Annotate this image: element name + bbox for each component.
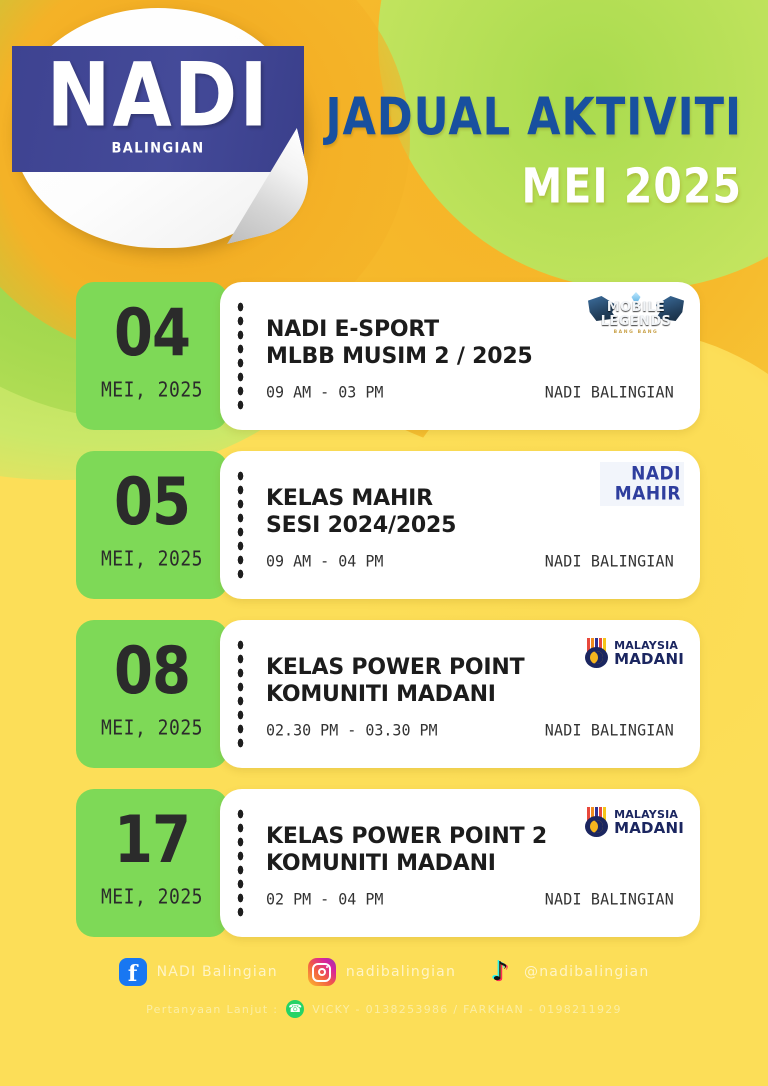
nadi-mahir-text-2: MAHIR — [615, 485, 681, 503]
social-item-facebook[interactable]: f NADI Balingian — [119, 958, 278, 986]
event-venue: NADI BALINGIAN — [545, 382, 674, 401]
social-links: f NADI Balingian nadibalingian ♪ @nadiba… — [0, 958, 768, 986]
date-month: MEI, 2025 — [101, 885, 203, 909]
event-meta: 02 PM - 04 PM NADI BALINGIAN — [266, 890, 678, 908]
event-time: 09 AM - 04 PM — [266, 551, 383, 570]
ml-logo-text-1: MOBILE — [607, 301, 665, 314]
date-badge: 04 MEI, 2025 — [76, 282, 228, 430]
event-list: 04 MEI, 2025 NADI E-SPORT MLBB MUSIM 2 /… — [0, 270, 768, 937]
facebook-handle: NADI Balingian — [157, 964, 278, 980]
nadi-mahir-logo-icon: NADI MAHIR — [600, 462, 684, 506]
contact-numbers: VICKY - 0138253986 / FARKHAN - 019821192… — [312, 1003, 622, 1016]
nadi-logo-sticker: NADI BALINGIAN — [12, 8, 304, 248]
social-item-tiktok[interactable]: ♪ @nadibalingian — [486, 958, 649, 986]
event-meta: 02.30 PM - 03.30 PM NADI BALINGIAN — [266, 721, 678, 739]
date-month: MEI, 2025 — [101, 547, 203, 571]
perforation-dots-icon — [236, 300, 245, 412]
event-title-line-1: KELAS POWER POINT — [266, 655, 582, 682]
instagram-icon[interactable] — [308, 958, 336, 986]
event-title-line-2: KOMUNITI MADANI — [266, 682, 582, 709]
event-venue: NADI BALINGIAN — [545, 720, 674, 739]
malaysia-madani-logo-icon: MALAYSIA MADANI — [584, 636, 684, 670]
ml-logo-text-3: BANG BANG — [614, 330, 659, 335]
contact-bar: Pertanyaan Lanjut : ☎ VICKY - 0138253986… — [0, 1000, 768, 1018]
event-row[interactable]: 17 MEI, 2025 KELAS POWER POINT 2 KOMUNIT… — [76, 789, 700, 937]
contact-prefix: Pertanyaan Lanjut : — [146, 1003, 278, 1016]
sticker-band: NADI BALINGIAN — [12, 46, 304, 172]
event-logo: MALAYSIA MADANI — [584, 801, 684, 843]
event-card[interactable]: NADI E-SPORT MLBB MUSIM 2 / 2025 09 AM -… — [220, 282, 700, 430]
date-day: 08 — [114, 639, 190, 704]
event-venue: NADI BALINGIAN — [545, 551, 674, 570]
instagram-handle: nadibalingian — [346, 964, 456, 980]
madani-crescent-icon — [590, 820, 603, 833]
tiktok-handle: @nadibalingian — [524, 964, 649, 980]
event-time: 09 AM - 03 PM — [266, 382, 383, 401]
event-title-line-2: SESI 2024/2025 — [266, 513, 582, 540]
event-meta: 09 AM - 04 PM NADI BALINGIAN — [266, 552, 678, 570]
event-card[interactable]: KELAS POWER POINT 2 KOMUNITI MADANI 02 P… — [220, 789, 700, 937]
malaysia-madani-logo-icon: MALAYSIA MADANI — [584, 805, 684, 839]
nadi-mahir-text-1: NADI — [631, 465, 681, 483]
event-row[interactable]: 05 MEI, 2025 KELAS MAHIR SESI 2024/2025 … — [76, 451, 700, 599]
madani-logo-text: MALAYSIA MADANI — [614, 640, 684, 667]
mobile-legends-logo-icon: MOBILE LEGENDS BANG BANG — [588, 292, 684, 338]
event-card[interactable]: KELAS MAHIR SESI 2024/2025 09 AM - 04 PM… — [220, 451, 700, 599]
madani-text-1: MALAYSIA — [614, 809, 684, 820]
madani-emblem-icon — [584, 807, 610, 837]
madani-emblem-icon — [584, 638, 610, 668]
event-title-line-2: KOMUNITI MADANI — [266, 851, 582, 878]
perforation-dots-icon — [236, 469, 245, 581]
madani-circle-icon — [585, 647, 608, 668]
date-day: 04 — [114, 301, 190, 366]
page-subtitle: MEI 2025 — [317, 162, 742, 210]
madani-logo-text: MALAYSIA MADANI — [614, 809, 684, 836]
perforation-dots-icon — [236, 638, 245, 750]
page-title: JADUAL AKTIVITI — [325, 92, 742, 144]
event-title-line-1: KELAS POWER POINT 2 — [266, 824, 582, 851]
social-item-instagram[interactable]: nadibalingian — [308, 958, 456, 986]
date-day: 17 — [114, 808, 190, 873]
madani-crescent-icon — [590, 651, 603, 664]
event-logo: NADI MAHIR — [600, 463, 684, 505]
date-badge: 05 MEI, 2025 — [76, 451, 228, 599]
event-row[interactable]: 08 MEI, 2025 KELAS POWER POINT KOMUNITI … — [76, 620, 700, 768]
madani-text-2: MADANI — [614, 821, 684, 836]
event-time: 02 PM - 04 PM — [266, 889, 383, 908]
event-logo: MALAYSIA MADANI — [584, 632, 684, 674]
event-title-line-2: MLBB MUSIM 2 / 2025 — [266, 344, 582, 371]
event-title-line-1: NADI E-SPORT — [266, 317, 582, 344]
facebook-icon[interactable]: f — [119, 958, 147, 986]
event-title-line-1: KELAS MAHIR — [266, 486, 582, 513]
event-venue: NADI BALINGIAN — [545, 889, 674, 908]
perforation-dots-icon — [236, 807, 245, 919]
date-month: MEI, 2025 — [101, 378, 203, 402]
poster-header: NADI BALINGIAN JADUAL AKTIVITI MEI 2025 — [0, 0, 768, 270]
ml-logo-text-2: LEGENDS — [601, 315, 672, 328]
madani-text-2: MADANI — [614, 652, 684, 667]
madani-circle-icon — [585, 816, 608, 837]
event-card[interactable]: KELAS POWER POINT KOMUNITI MADANI 02.30 … — [220, 620, 700, 768]
event-row[interactable]: 04 MEI, 2025 NADI E-SPORT MLBB MUSIM 2 /… — [76, 282, 700, 430]
tiktok-icon[interactable]: ♪ — [486, 958, 514, 986]
whatsapp-icon[interactable]: ☎ — [286, 1000, 304, 1018]
madani-text-1: MALAYSIA — [614, 640, 684, 651]
date-badge: 08 MEI, 2025 — [76, 620, 228, 768]
nadi-logo-subtext: BALINGIAN — [111, 140, 204, 157]
date-badge: 17 MEI, 2025 — [76, 789, 228, 937]
nadi-logo-text: NADI — [46, 55, 269, 136]
date-month: MEI, 2025 — [101, 716, 203, 740]
event-meta: 09 AM - 03 PM NADI BALINGIAN — [266, 383, 678, 401]
poster-title-block: JADUAL AKTIVITI MEI 2025 — [317, 96, 742, 207]
event-time: 02.30 PM - 03.30 PM — [266, 720, 438, 739]
date-day: 05 — [114, 470, 190, 535]
event-logo: MOBILE LEGENDS BANG BANG — [588, 294, 684, 336]
